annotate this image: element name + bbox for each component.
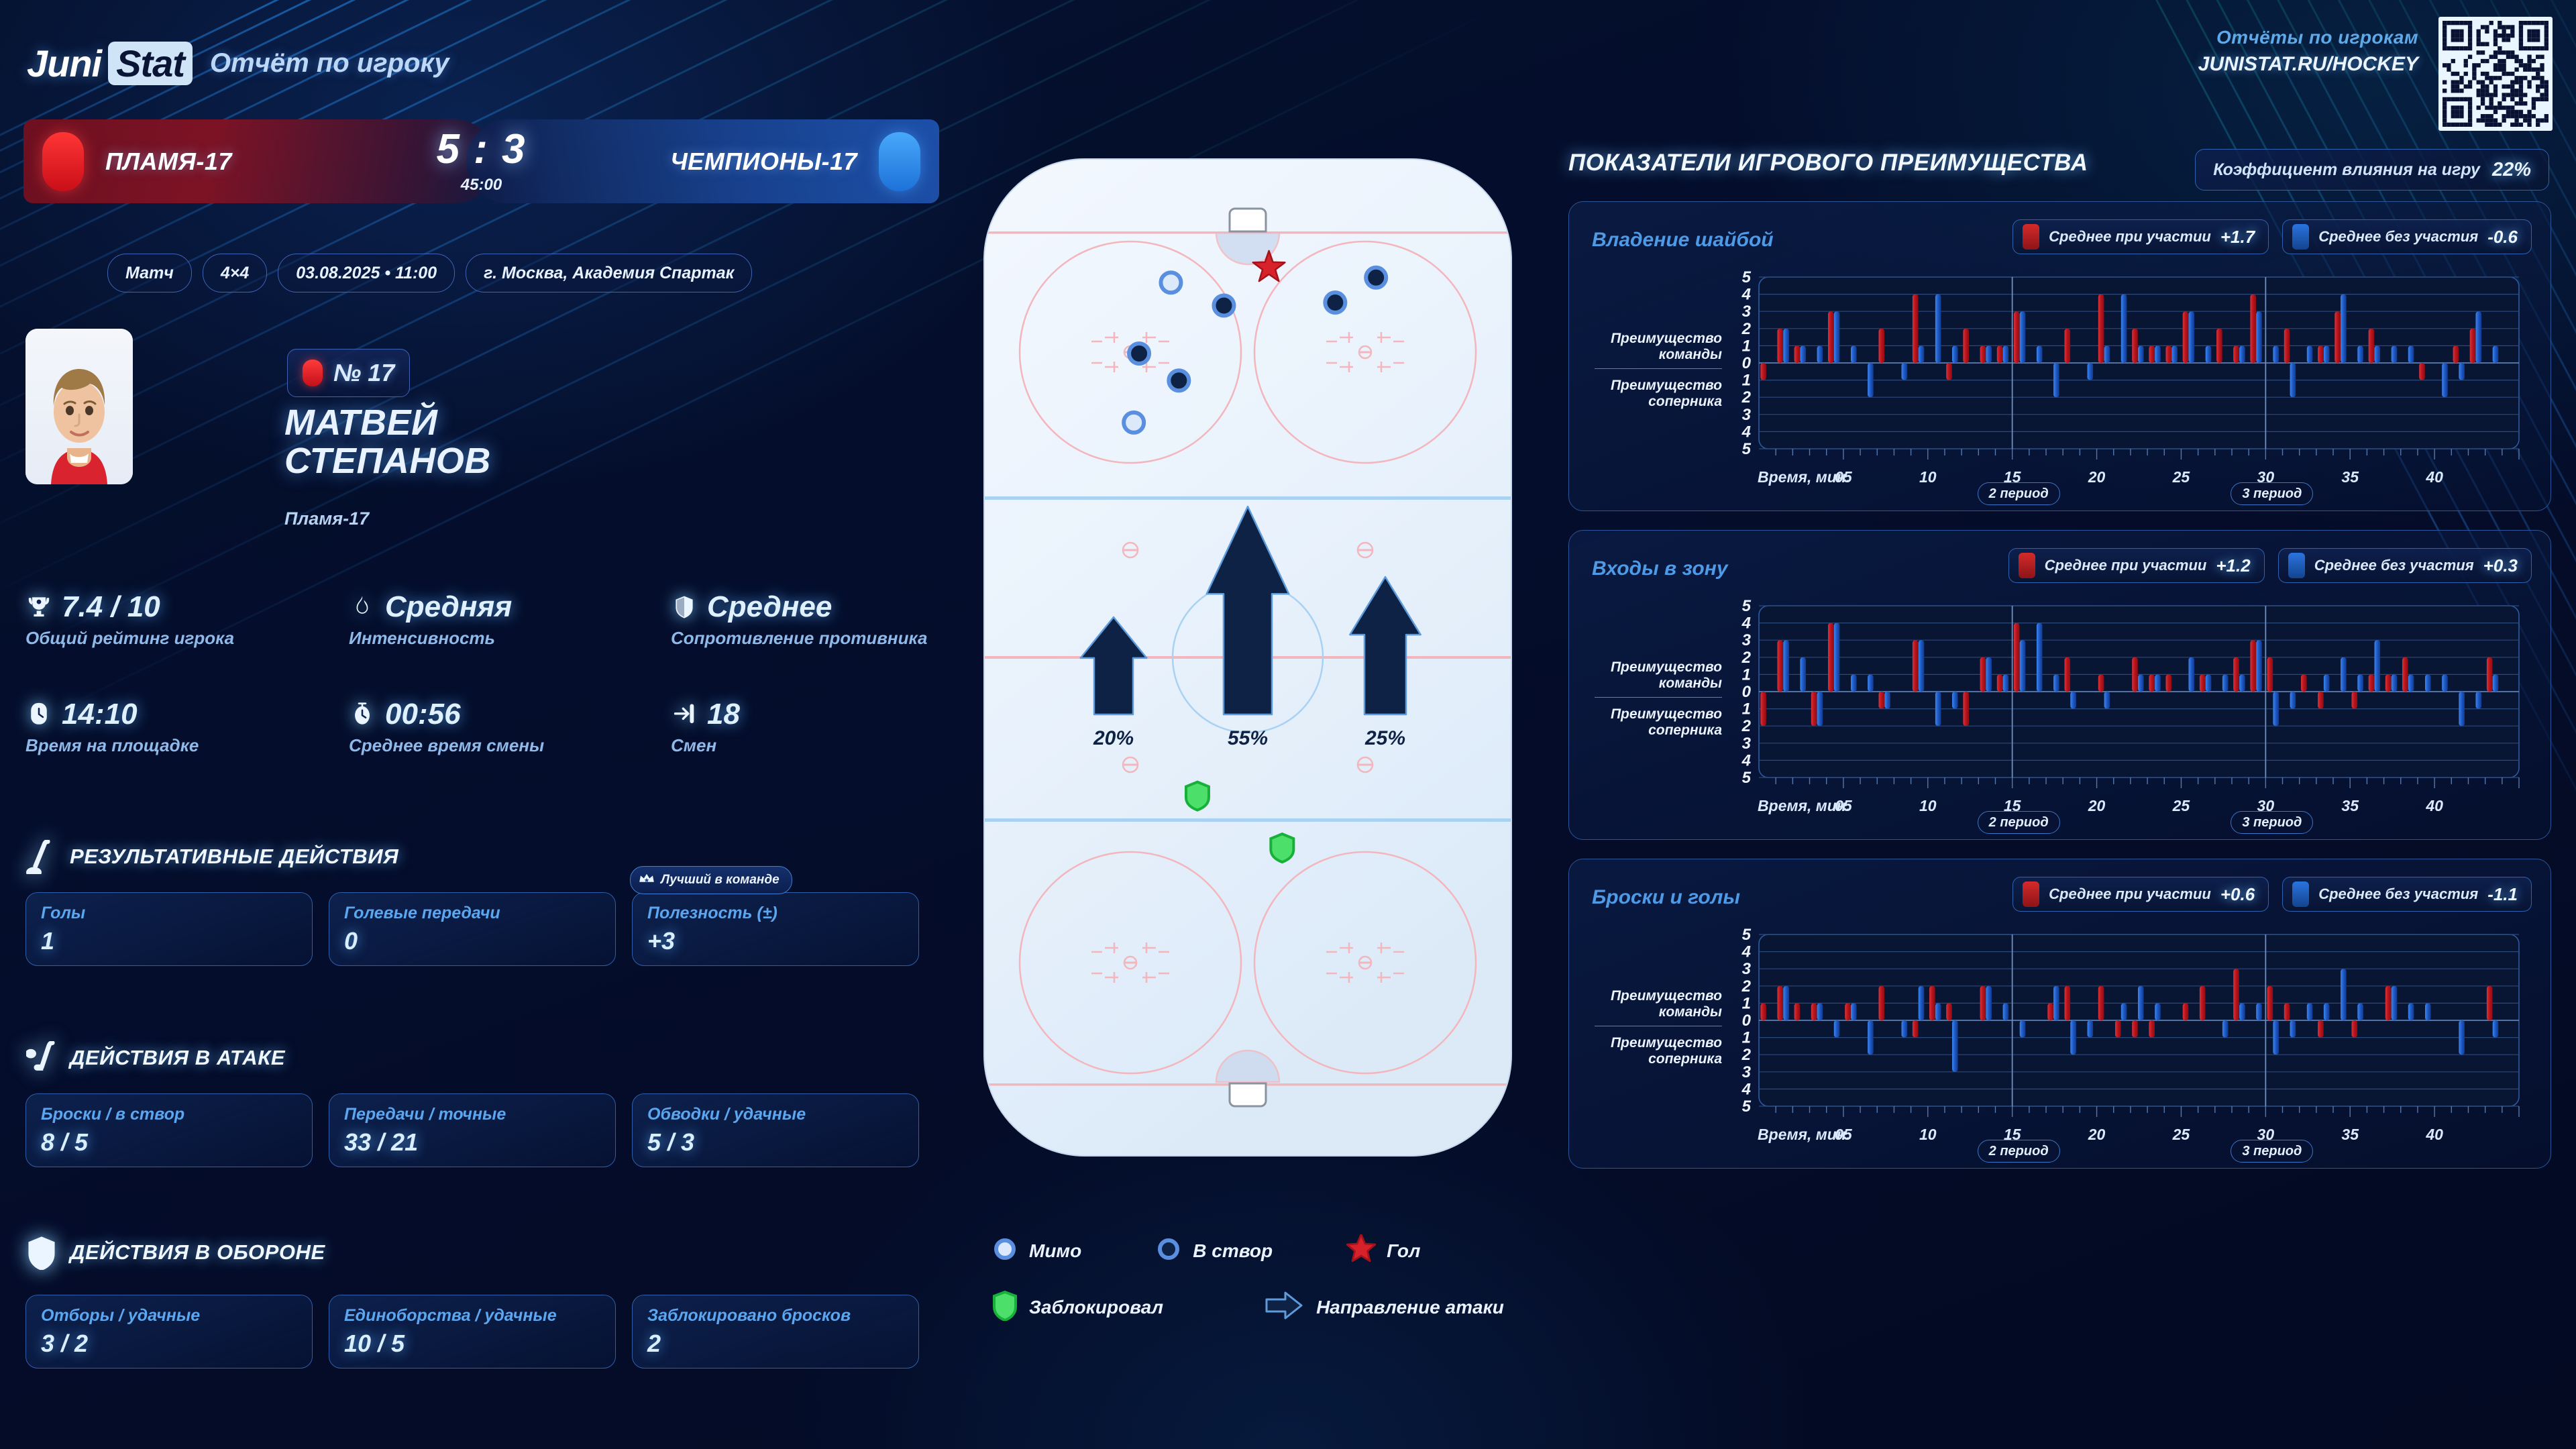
legend-without-value: +0.3 — [2483, 555, 2518, 576]
axis-label-opponent-advantage: Преимуществосоперника — [1588, 1035, 1722, 1068]
legend-item: Гол — [1346, 1234, 1420, 1267]
svg-text:2: 2 — [1741, 388, 1752, 407]
axis-label-divider — [1595, 697, 1722, 698]
meta-pill-0[interactable]: Матч — [107, 254, 192, 292]
legend-swatch-blue — [2288, 553, 2305, 578]
kpi-label: Общий рейтинг игрока — [25, 628, 234, 649]
svg-text:1: 1 — [1742, 372, 1751, 390]
advantage-bar-chart: 54321012345Время, мин.0510152025303540 — [1722, 598, 2527, 819]
kpi-2: СреднееСопротивление противника — [671, 590, 927, 649]
logo-stat-text: Stat — [108, 42, 193, 85]
svg-text:25%: 25% — [1364, 727, 1405, 749]
kpi-value: 14:10 — [62, 698, 138, 731]
period-marker-1: 3 период — [2231, 811, 2313, 834]
best-in-team-label: Лучший в команде — [661, 873, 780, 888]
svg-text:40: 40 — [2425, 1126, 2443, 1143]
stat-card-label: Голевые передачи — [344, 904, 600, 923]
rink-legend: МимоВ створГолЗаблокировалНаправление ат… — [991, 1234, 1528, 1347]
axis-label-opponent-advantage: Преимуществосоперника — [1588, 378, 1722, 411]
stat-card-label: Голы — [41, 904, 297, 923]
stat-card-value: 3 / 2 — [41, 1330, 297, 1358]
kpi-4: 00:56Среднее время смены — [349, 698, 544, 756]
section-cards-2: Отборы / удачные3 / 2Единоборства / удач… — [25, 1295, 919, 1368]
legend-row-0: МимоВ створГол — [991, 1234, 1528, 1267]
chart-title: Входы в зону — [1592, 557, 1728, 580]
svg-text:2: 2 — [1741, 1046, 1752, 1064]
stat-card-value: 10 / 5 — [344, 1330, 600, 1358]
stat-card-value: 33 / 21 — [344, 1128, 600, 1157]
stick-icon — [25, 1038, 58, 1077]
trophy-icon — [25, 592, 52, 622]
svg-text:20: 20 — [2088, 1126, 2106, 1143]
team-color-dot — [303, 360, 323, 386]
advantage-chart-panel-0: Владение шайбойСреднее при участии+1.7Ср… — [1568, 201, 2551, 511]
promo-block: Отчёты по игрокам JUNISTAT.RU/HOCKEY — [2198, 27, 2418, 76]
advantage-bar-chart: 54321012345Время, мин.0510152025303540 — [1722, 269, 2527, 490]
stat-card-value: 5 / 3 — [647, 1128, 904, 1157]
arrow-in-icon — [671, 700, 698, 729]
away-team-color-chip — [879, 132, 920, 191]
svg-text:2: 2 — [1741, 717, 1752, 735]
section-heading-1: ДЕЙСТВИЯ В АТАКЕ — [25, 1038, 285, 1077]
chart-title: Владение шайбой — [1592, 229, 1774, 252]
axis-label-divider — [1595, 368, 1722, 369]
section-heading-2: ДЕЙСТВИЯ В ОБОРОНЕ — [25, 1233, 325, 1272]
kpi-label: Среднее время смены — [349, 735, 544, 756]
svg-text:3: 3 — [1742, 303, 1752, 321]
clock-icon — [25, 700, 52, 729]
legend-with-value: +1.2 — [2216, 555, 2250, 576]
scoreboard: ПЛАМЯ-17 ЧЕМПИОНЫ-17 5 : 3 45:00 — [23, 119, 939, 203]
home-team-block: ПЛАМЯ-17 — [23, 119, 496, 203]
legend-item: Направление атаки — [1264, 1290, 1504, 1324]
stat-card-value: 0 — [344, 927, 600, 955]
svg-text:35: 35 — [2341, 1126, 2359, 1143]
impact-coefficient-label: Коэффициент влияния на игру — [2213, 160, 2480, 180]
shield-icon — [671, 592, 698, 622]
defense-shield-icon — [25, 1233, 58, 1272]
meta-pill-1[interactable]: 4×4 — [203, 254, 267, 292]
impact-coefficient-value: 22% — [2492, 159, 2531, 181]
kpi-3: 14:10Время на площадке — [25, 698, 199, 756]
home-team-name: ПЛАМЯ-17 — [105, 148, 232, 176]
svg-text:1: 1 — [1742, 994, 1751, 1012]
crown-icon — [639, 872, 655, 889]
legend-swatch-blue — [2292, 881, 2309, 907]
chart-title: Броски и голы — [1592, 886, 1740, 909]
flame-icon — [349, 592, 376, 622]
svg-text:4: 4 — [1741, 751, 1751, 769]
legend-swatch-blue — [2292, 224, 2309, 250]
advantage-panel-title: ПОКАЗАТЕЛИ ИГРОВОГО ПРЕИМУЩЕСТВА — [1568, 150, 2088, 176]
kpi-value: 00:56 — [385, 698, 461, 731]
svg-text:05: 05 — [1835, 1126, 1853, 1143]
svg-text:10: 10 — [1919, 468, 1937, 486]
svg-text:2: 2 — [1741, 649, 1752, 667]
axis-label-opponent-advantage: Преимуществосоперника — [1588, 706, 1722, 739]
player-team: Пламя-17 — [284, 508, 369, 529]
axis-label-divider — [1595, 1026, 1722, 1026]
kpi-1: СредняяИнтенсивность — [349, 590, 512, 649]
svg-text:0: 0 — [1742, 1012, 1752, 1030]
home-team-color-chip — [42, 132, 84, 191]
stat-card-label: Передачи / точные — [344, 1105, 600, 1124]
legend-with-value: +1.7 — [2220, 227, 2255, 248]
legend-label: Мимо — [1029, 1240, 1081, 1262]
star-icon — [1346, 1234, 1376, 1267]
svg-text:0: 0 — [1742, 683, 1752, 701]
legend-average-without[interactable]: Среднее без участия-0.6 — [2282, 219, 2532, 254]
legend-with-label: Среднее при участии — [2049, 885, 2211, 903]
kpi-label: Время на площадке — [25, 735, 199, 756]
kpi-label: Интенсивность — [349, 628, 512, 649]
period-marker-1: 3 период — [2231, 1140, 2313, 1163]
circle-light-icon — [991, 1236, 1018, 1266]
svg-text:25: 25 — [2172, 468, 2191, 486]
player-first-name: МАТВЕЙ — [284, 404, 491, 442]
advantage-chart-panel-1: Входы в зонуСреднее при участии+1.2Средн… — [1568, 530, 2551, 840]
period-marker-0: 2 период — [1978, 1140, 2060, 1163]
stat-card-value: 2 — [647, 1330, 904, 1358]
svg-text:4: 4 — [1741, 286, 1751, 304]
kpi-value: Среднее — [707, 590, 832, 624]
period-marker-1: 3 период — [2231, 482, 2313, 505]
stat-card-label: Полезность (±) — [647, 904, 904, 923]
stat-card-value: 8 / 5 — [41, 1128, 297, 1157]
kpi-value: Средняя — [385, 590, 512, 624]
stat-card-label: Заблокировано бросков — [647, 1306, 904, 1326]
legend-swatch-red — [2019, 553, 2035, 578]
logo-juni-text: Juni — [27, 42, 101, 85]
legend-average-with[interactable]: Среднее при участии+0.6 — [2012, 877, 2269, 912]
stat-card-label: Отборы / удачные — [41, 1306, 297, 1326]
circle-dark-icon — [1155, 1236, 1182, 1266]
legend-row-1: ЗаблокировалНаправление атаки — [991, 1290, 1528, 1324]
svg-text:5: 5 — [1742, 769, 1752, 787]
legend-with-label: Среднее при участии — [2045, 557, 2207, 574]
svg-text:4: 4 — [1741, 614, 1751, 633]
legend-swatch-red — [2023, 224, 2039, 250]
stat-card[interactable]: Заблокировано бросков2 — [632, 1295, 919, 1368]
kpi-value: 7.4 / 10 — [62, 590, 160, 624]
away-team-name: ЧЕМПИОНЫ-17 — [670, 148, 857, 176]
legend-without-label: Среднее без участия — [2318, 885, 2478, 903]
away-team-block: ЧЕМПИОНЫ-17 — [466, 119, 939, 203]
svg-text:2: 2 — [1741, 320, 1752, 338]
player-number-badge: № 17 — [287, 349, 410, 397]
legend-with-value: +0.6 — [2220, 884, 2255, 905]
meta-pill-3[interactable]: г. Москва, Академия Спартак — [466, 254, 752, 292]
svg-text:4: 4 — [1741, 1080, 1751, 1098]
shield-green-icon — [991, 1290, 1018, 1324]
legend-average-without[interactable]: Среднее без участия-1.1 — [2282, 877, 2532, 912]
svg-text:05: 05 — [1835, 797, 1853, 814]
stat-card[interactable]: Лучший в командеПолезность (±)+3 — [632, 892, 919, 966]
best-in-team-badge: Лучший в команде — [630, 866, 792, 894]
legend-average-without[interactable]: Среднее без участия+0.3 — [2278, 548, 2532, 583]
legend-item: В створ — [1155, 1236, 1273, 1266]
stat-card-label: Обводки / удачные — [647, 1105, 904, 1124]
stat-card[interactable]: Единоборства / удачные10 / 5 — [329, 1295, 616, 1368]
chart-legend: Среднее при участии+1.7Среднее без участ… — [2012, 219, 2532, 254]
stat-card[interactable]: Голы1 — [25, 892, 313, 966]
stick-puck-icon — [25, 837, 58, 876]
svg-text:25: 25 — [2172, 797, 2191, 814]
svg-text:3: 3 — [1742, 735, 1752, 753]
svg-text:20: 20 — [2088, 797, 2106, 814]
impact-coefficient-badge: Коэффициент влияния на игру 22% — [2195, 149, 2549, 191]
page-title: Отчёт по игроку — [210, 48, 449, 78]
svg-text:1: 1 — [1742, 700, 1751, 718]
svg-text:1: 1 — [1742, 337, 1751, 355]
match-meta-pills: Матч4×403.08.2025 • 11:00г. Москва, Акад… — [107, 254, 752, 292]
svg-text:3: 3 — [1742, 960, 1752, 978]
player-last-name: СТЕПАНОВ — [284, 442, 491, 480]
svg-text:35: 35 — [2341, 468, 2359, 486]
section-cards-1: Броски / в створ8 / 5Передачи / точные33… — [25, 1093, 919, 1167]
svg-text:5: 5 — [1742, 926, 1752, 944]
stat-card[interactable]: Обводки / удачные5 / 3 — [632, 1093, 919, 1167]
svg-text:10: 10 — [1919, 797, 1937, 814]
kpi-value: 18 — [707, 698, 740, 731]
stat-card-label: Единоборства / удачные — [344, 1306, 600, 1326]
legend-with-label: Среднее при участии — [2049, 228, 2211, 246]
qr-code-icon[interactable] — [2438, 17, 2553, 131]
rink-diagram: 20%55%25% — [983, 158, 1513, 1157]
legend-label: Гол — [1387, 1240, 1420, 1262]
section-title: ДЕЙСТВИЯ В АТАКЕ — [70, 1046, 285, 1070]
axis-label-team-advantage: Преимуществокоманды — [1588, 659, 1722, 692]
stat-card-value: 1 — [41, 927, 297, 955]
section-title: ДЕЙСТВИЯ В ОБОРОНЕ — [70, 1240, 325, 1265]
svg-text:35: 35 — [2341, 797, 2359, 814]
stat-card-value: +3 — [647, 927, 904, 955]
legend-label: Заблокировал — [1029, 1297, 1163, 1318]
stat-card[interactable]: Отборы / удачные3 / 2 — [25, 1295, 313, 1368]
player-photo — [25, 329, 133, 484]
svg-text:0: 0 — [1742, 354, 1752, 372]
kpi-5: 18Смен — [671, 698, 740, 756]
svg-text:4: 4 — [1741, 423, 1751, 441]
stat-card[interactable]: Голевые передачи0 — [329, 892, 616, 966]
svg-text:5: 5 — [1742, 440, 1752, 458]
svg-text:1: 1 — [1742, 665, 1751, 684]
svg-text:40: 40 — [2425, 797, 2443, 814]
svg-text:2: 2 — [1741, 977, 1752, 996]
legend-average-with[interactable]: Среднее при участии+1.2 — [2008, 548, 2265, 583]
section-cards-0: Голы1Голевые передачи0Лучший в командеПо… — [25, 892, 919, 966]
player-number: № 17 — [333, 359, 394, 387]
svg-text:05: 05 — [1835, 468, 1853, 486]
svg-text:4: 4 — [1741, 943, 1751, 961]
chart-legend: Среднее при участии+1.2Среднее без участ… — [2008, 548, 2532, 583]
svg-text:25: 25 — [2172, 1126, 2191, 1143]
legend-without-label: Среднее без участия — [2318, 228, 2478, 246]
axis-label-team-advantage: Преимуществокоманды — [1588, 331, 1722, 364]
svg-text:5: 5 — [1742, 1097, 1752, 1116]
app-logo: Juni Stat Отчёт по игроку — [27, 42, 449, 85]
promo-line-1: Отчёты по игрокам — [2198, 27, 2418, 48]
arrow-right-icon — [1264, 1290, 1305, 1324]
legend-item: Мимо — [991, 1236, 1081, 1266]
section-title: РЕЗУЛЬТАТИВНЫЕ ДЕЙСТВИЯ — [70, 845, 398, 869]
promo-line-2: JUNISTAT.RU/HOCKEY — [2198, 53, 2418, 76]
legend-label: Направление атаки — [1316, 1297, 1504, 1318]
period-marker-0: 2 период — [1978, 482, 2060, 505]
kpi-label: Сопротивление противника — [671, 628, 927, 649]
svg-text:3: 3 — [1742, 631, 1752, 649]
player-name: МАТВЕЙ СТЕПАНОВ — [284, 404, 491, 480]
kpi-0: 7.4 / 10Общий рейтинг игрока — [25, 590, 234, 649]
svg-text:1: 1 — [1742, 1029, 1751, 1047]
legend-swatch-red — [2023, 881, 2039, 907]
svg-text:40: 40 — [2425, 468, 2443, 486]
svg-text:20%: 20% — [1093, 727, 1134, 749]
meta-pill-2[interactable]: 03.08.2025 • 11:00 — [278, 254, 455, 292]
chart-legend: Среднее при участии+0.6Среднее без участ… — [2012, 877, 2532, 912]
stat-card[interactable]: Передачи / точные33 / 21 — [329, 1093, 616, 1167]
svg-text:5: 5 — [1742, 269, 1752, 286]
legend-without-value: -0.6 — [2487, 227, 2518, 248]
stat-card-label: Броски / в створ — [41, 1105, 297, 1124]
svg-text:10: 10 — [1919, 1126, 1937, 1143]
svg-text:5: 5 — [1742, 598, 1752, 615]
axis-label-team-advantage: Преимуществокоманды — [1588, 988, 1722, 1021]
svg-text:3: 3 — [1742, 1063, 1752, 1081]
period-marker-0: 2 период — [1978, 811, 2060, 834]
legend-without-value: -1.1 — [2487, 884, 2518, 905]
legend-average-with[interactable]: Среднее при участии+1.7 — [2012, 219, 2269, 254]
kpi-label: Смен — [671, 735, 740, 756]
advantage-bar-chart: 54321012345Время, мин.0510152025303540 — [1722, 926, 2527, 1148]
legend-label: В створ — [1193, 1240, 1273, 1262]
svg-text:3: 3 — [1742, 406, 1752, 424]
svg-text:55%: 55% — [1228, 727, 1268, 749]
svg-text:20: 20 — [2088, 468, 2106, 486]
stat-card[interactable]: Броски / в створ8 / 5 — [25, 1093, 313, 1167]
advantage-chart-panel-2: Броски и голыСреднее при участии+0.6Сред… — [1568, 859, 2551, 1169]
stopwatch-icon — [349, 700, 376, 729]
legend-item: Заблокировал — [991, 1290, 1163, 1324]
section-heading-0: РЕЗУЛЬТАТИВНЫЕ ДЕЙСТВИЯ — [25, 837, 398, 876]
legend-without-label: Среднее без участия — [2314, 557, 2474, 574]
